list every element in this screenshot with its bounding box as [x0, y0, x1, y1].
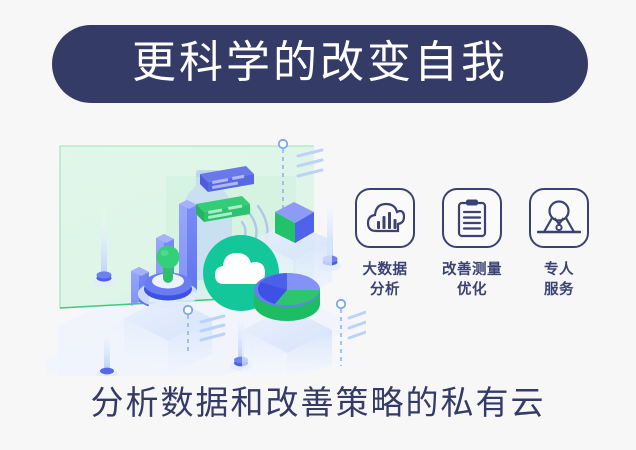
title-banner: 更科学的改变自我: [52, 25, 588, 103]
cloud-chart-icon: [355, 188, 415, 248]
page-title: 更科学的改变自我: [132, 41, 508, 88]
feature-big-data-analysis[interactable]: 大数据 分析: [352, 188, 418, 328]
feature-list: 大数据 分析 改善测量 优化: [352, 188, 592, 328]
clipboard-icon: [442, 188, 502, 248]
promo-poster: 更科学的改变自我: [0, 0, 636, 450]
feature-label: 改善测量 优化: [442, 261, 502, 300]
caption-text: 分析数据和改善策略的私有云: [91, 384, 546, 421]
feature-label: 专人 服务: [544, 261, 574, 300]
feature-dedicated-service[interactable]: 专人 服务: [526, 188, 592, 328]
isometric-data-platform-illustration: [46, 126, 366, 376]
pie-chart-3d: [254, 273, 320, 321]
support-agent-icon: [529, 188, 589, 248]
footer-caption: 分析数据和改善策略的私有云: [0, 385, 636, 421]
feature-label: 大数据 分析: [363, 261, 408, 300]
feature-measurement-optimization[interactable]: 改善测量 优化: [439, 188, 505, 328]
